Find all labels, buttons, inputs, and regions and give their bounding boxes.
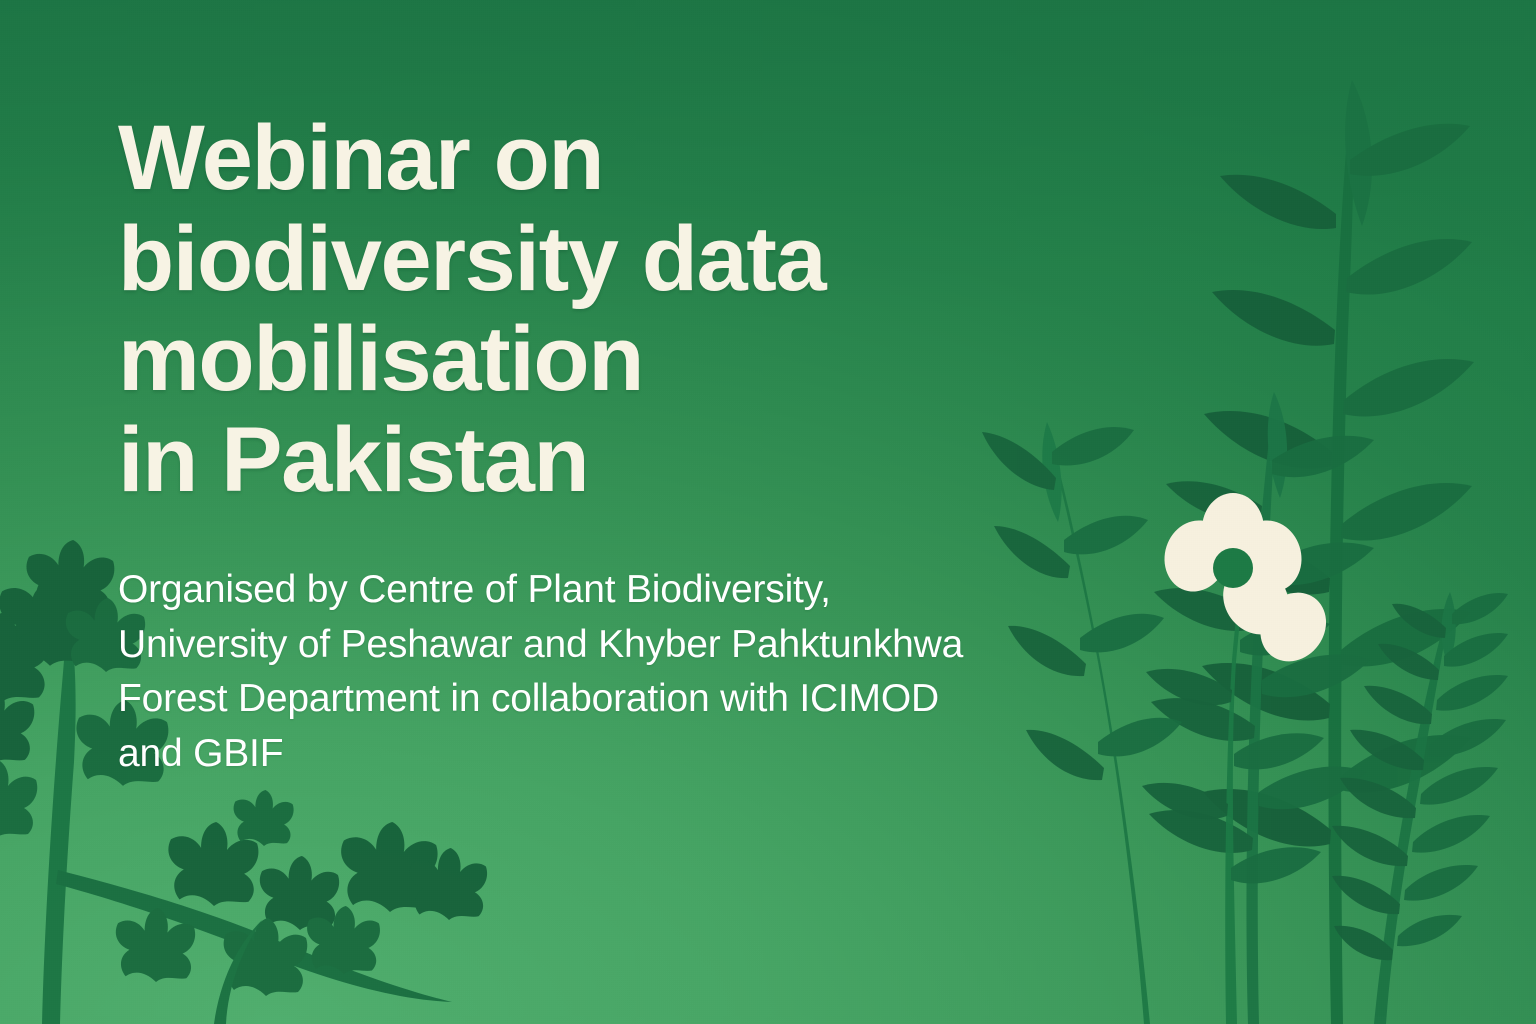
page-title: Webinar on biodiversity data mobilisatio… (118, 108, 1048, 511)
webinar-promo-poster: Webinar on biodiversity data mobilisatio… (0, 0, 1536, 1024)
poster-subtitle-organisers: Organised by Centre of Plant Biodiversit… (118, 511, 1048, 781)
poster-text-block: Webinar on biodiversity data mobilisatio… (118, 108, 1048, 781)
